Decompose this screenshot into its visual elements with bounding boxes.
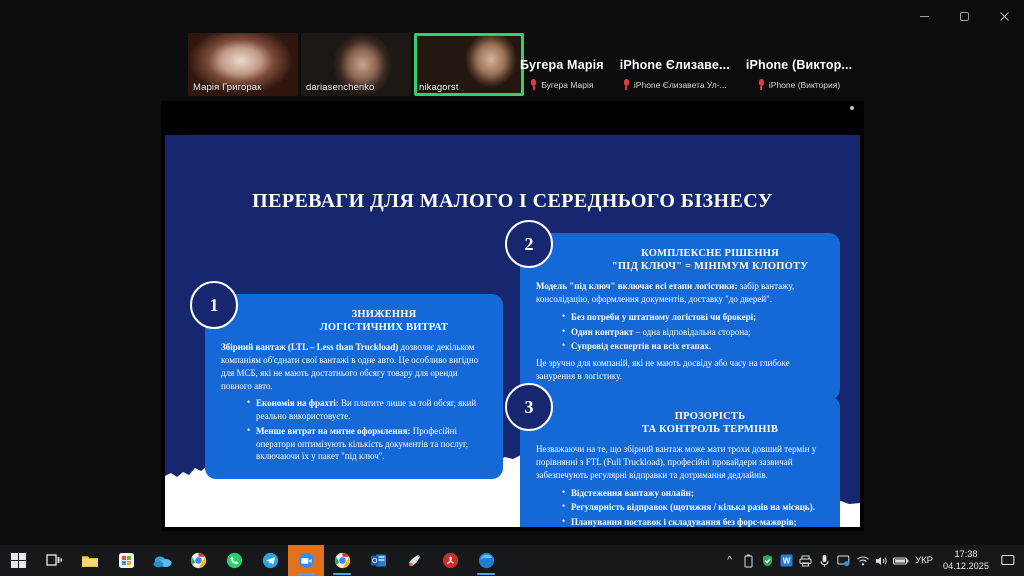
close-button[interactable] xyxy=(984,0,1024,32)
minimize-button[interactable] xyxy=(904,0,944,32)
card-heading-line2: ТА КОНТРОЛЬ ТЕРМІНІВ xyxy=(594,423,826,436)
zoom-button[interactable] xyxy=(288,545,324,576)
card-heading: КОМПЛЕКСНЕ РІШЕННЯ "ПІД КЛЮЧ" = МІНІМУМ … xyxy=(520,233,840,280)
card-number: 1 xyxy=(210,295,219,316)
microphone-icon[interactable] xyxy=(815,545,834,576)
card-bullets: Відстеження вантажу онлайн; Регулярність… xyxy=(536,487,824,527)
participant-chip-label: iPhone Єлизавета Ул-... xyxy=(634,80,727,90)
card-outro: Це зручно для компаній, які не мають дос… xyxy=(536,357,824,383)
card-body: Модель "під ключ" включає всі етапи логі… xyxy=(520,280,840,399)
video-tile-name: Марія Григорак xyxy=(188,80,266,96)
card-heading: ЗНИЖЕННЯ ЛОГІСТИЧНИХ ВИТРАТ xyxy=(205,294,503,341)
outlook-button[interactable]: O xyxy=(360,545,396,576)
video-tile-active-speaker[interactable]: nikagorst xyxy=(414,33,524,96)
restore-button[interactable] xyxy=(944,0,984,32)
card-intro: Збірний вантаж (LTL – Less than Truckloa… xyxy=(221,341,487,392)
card-intro-bold: Модель "під ключ" включає всі етапи логі… xyxy=(536,281,738,291)
bullet-bold: Відстеження вантажу онлайн; xyxy=(571,488,694,498)
card-number-badge: 2 xyxy=(505,220,553,268)
active-window-indicator xyxy=(477,573,495,575)
display-settings-icon[interactable] xyxy=(834,545,853,576)
card-heading-line2: "ПІД КЛЮЧ" = МІНІМУМ КЛОПОТУ xyxy=(594,260,826,273)
volume-icon[interactable] xyxy=(872,545,891,576)
participant-filmstrip: Марія Григорак dariasenchenko nikagorst xyxy=(188,33,524,96)
card-heading-line2: ЛОГІСТИЧНИХ ВИТРАТ xyxy=(279,321,489,334)
bullet-bold: Менше витрат на митне оформлення: xyxy=(256,426,411,436)
window-controls xyxy=(904,0,1024,32)
card-number-badge: 3 xyxy=(505,383,553,431)
card-heading: ПРОЗОРІСТЬ ТА КОНТРОЛЬ ТЕРМІНІВ xyxy=(520,396,840,443)
language-indicator[interactable]: УКР xyxy=(910,555,938,566)
bullet-bold: Один контракт xyxy=(571,327,633,337)
battery-icon[interactable] xyxy=(739,545,758,576)
system-tray: ^ W xyxy=(720,545,1024,576)
notifications-button[interactable] xyxy=(996,545,1020,576)
card-bullet: Відстеження вантажу онлайн; xyxy=(562,487,824,500)
desktop: Марія Григорак dariasenchenko nikagorst … xyxy=(0,0,1024,576)
participant-entry[interactable]: iPhone (Виктор... iPhone (Виктория) xyxy=(746,58,852,90)
card-number-badge: 1 xyxy=(190,281,238,329)
telegram-button[interactable] xyxy=(252,545,288,576)
card-heading-line1: ЗНИЖЕННЯ xyxy=(279,308,489,321)
svg-text:W: W xyxy=(783,557,791,566)
file-explorer-button[interactable] xyxy=(72,545,108,576)
benefit-card-1: ЗНИЖЕННЯ ЛОГІСТИЧНИХ ВИТРАТ Збірний вант… xyxy=(205,294,503,479)
card-intro-rest: Незважаючи на те, що збірний вантаж може… xyxy=(536,444,816,480)
active-window-indicator xyxy=(297,573,315,575)
show-hidden-icons-button[interactable]: ^ xyxy=(720,545,739,576)
participant-chip-label: iPhone (Виктория) xyxy=(769,80,840,90)
pdf-reader-button[interactable] xyxy=(432,545,468,576)
active-window-indicator xyxy=(333,573,351,575)
battery-level-icon[interactable] xyxy=(891,545,910,576)
word-icon[interactable]: W xyxy=(777,545,796,576)
video-tile-name: nikagorst xyxy=(414,80,463,96)
slide-title: ПЕРЕВАГИ ДЛЯ МАЛОГО І СЕРЕДНЬОГО БІЗНЕСУ xyxy=(165,190,860,213)
presentation-slide: ПЕРЕВАГИ ДЛЯ МАЛОГО І СЕРЕДНЬОГО БІЗНЕСУ… xyxy=(165,135,860,527)
task-view-button[interactable] xyxy=(36,545,72,576)
name-only-participants: Бугера Марія Бугера Марія iPhone Єлизаве… xyxy=(520,58,852,90)
card-bullets: Економія на фрахті: Ви платите лише за т… xyxy=(221,397,487,463)
clock[interactable]: 17:38 04.12.2025 xyxy=(938,549,996,572)
muted-mic-icon xyxy=(758,79,765,90)
participant-chip: iPhone (Виктория) xyxy=(758,79,840,90)
clock-date: 04.12.2025 xyxy=(943,561,989,573)
bullet-bold: Супровід експертів на всіх етапах. xyxy=(571,341,711,351)
zoom-meeting-window: Марія Григорак dariasenchenko nikagorst … xyxy=(0,0,1024,545)
google-chrome-button[interactable] xyxy=(180,545,216,576)
muted-mic-icon xyxy=(623,79,630,90)
card-heading-line1: КОМПЛЕКСНЕ РІШЕННЯ xyxy=(594,247,826,260)
card-intro: Незважаючи на те, що збірний вантаж може… xyxy=(536,443,824,481)
muted-mic-icon xyxy=(530,79,537,90)
participant-chip: Бугера Марія xyxy=(530,79,593,90)
windows-taskbar: O ^ W xyxy=(0,545,1024,576)
chrome-window-button[interactable] xyxy=(324,545,360,576)
card-bullet: Без потреби у штатному логістові чи брок… xyxy=(562,311,824,324)
card-bullet: Планування поставок і складування без фо… xyxy=(562,516,824,527)
shared-screen[interactable]: ПЕРЕВАГИ ДЛЯ МАЛОГО І СЕРЕДНЬОГО БІЗНЕСУ… xyxy=(161,101,864,531)
card-heading-line1: ПРОЗОРІСТЬ xyxy=(594,410,826,423)
card-bullet: Супровід експертів на всіх етапах. xyxy=(562,340,824,353)
onedrive-button[interactable] xyxy=(144,545,180,576)
bullet-rest: – одна відповідальна сторона; xyxy=(633,327,750,337)
safety-shield-icon[interactable] xyxy=(758,545,777,576)
whatsapp-button[interactable] xyxy=(216,545,252,576)
card-number: 3 xyxy=(525,397,534,418)
edge-button[interactable] xyxy=(468,545,504,576)
card-body: Збірний вантаж (LTL – Less than Truckloa… xyxy=(205,341,503,479)
participant-entry[interactable]: Бугера Марія Бугера Марія xyxy=(520,58,604,90)
video-tile[interactable]: Марія Григорак xyxy=(188,33,298,96)
screen-share-indicator-icon xyxy=(850,106,854,110)
microsoft-store-button[interactable] xyxy=(108,545,144,576)
card-number: 2 xyxy=(525,234,534,255)
card-body: Незважаючи на те, що збірний вантаж може… xyxy=(520,443,840,527)
card-bullets: Без потреби у штатному логістові чи брок… xyxy=(536,311,824,353)
taskbar-buttons: O xyxy=(0,545,504,576)
card-bullet: Регулярність відправок (щотижня / кілька… xyxy=(562,501,824,514)
video-tile[interactable]: dariasenchenko xyxy=(301,33,411,96)
card-bullet: Економія на фрахті: Ви платите лише за т… xyxy=(247,397,487,423)
bullet-bold: Без потреби у штатному логістові чи брок… xyxy=(571,312,756,322)
bullet-bold: Регулярність відправок (щотижня / кілька… xyxy=(571,502,815,512)
bullet-bold: Планування поставок і складування без фо… xyxy=(571,517,797,527)
card-bullet: Менше витрат на митне оформлення: Профес… xyxy=(247,425,487,463)
card-intro-bold: Збірний вантаж (LTL – Less than Truckloa… xyxy=(221,342,398,352)
start-button[interactable] xyxy=(0,545,36,576)
participant-title: Бугера Марія xyxy=(520,58,604,72)
video-tile-name: dariasenchenko xyxy=(301,80,379,96)
svg-text:O: O xyxy=(371,558,377,565)
participant-title: iPhone (Виктор... xyxy=(746,58,852,72)
paint-button[interactable] xyxy=(396,545,432,576)
participant-chip: iPhone Єлизавета Ул-... xyxy=(623,79,727,90)
participant-title: iPhone Єлизаве... xyxy=(620,58,730,72)
printer-icon[interactable] xyxy=(796,545,815,576)
card-bullet: Один контракт – одна відповідальна сторо… xyxy=(562,326,824,339)
participant-entry[interactable]: iPhone Єлизаве... iPhone Єлизавета Ул-..… xyxy=(620,58,730,90)
wifi-icon[interactable] xyxy=(853,545,872,576)
participant-chip-label: Бугера Марія xyxy=(541,80,593,90)
benefit-card-2: КОМПЛЕКСНЕ РІШЕННЯ "ПІД КЛЮЧ" = МІНІМУМ … xyxy=(520,233,840,400)
benefit-card-3: ПРОЗОРІСТЬ ТА КОНТРОЛЬ ТЕРМІНІВ Незважаю… xyxy=(520,396,840,527)
card-intro: Модель "під ключ" включає всі етапи логі… xyxy=(536,280,824,306)
bullet-bold: Економія на фрахті: xyxy=(256,398,339,408)
clock-time: 17:38 xyxy=(943,549,989,561)
